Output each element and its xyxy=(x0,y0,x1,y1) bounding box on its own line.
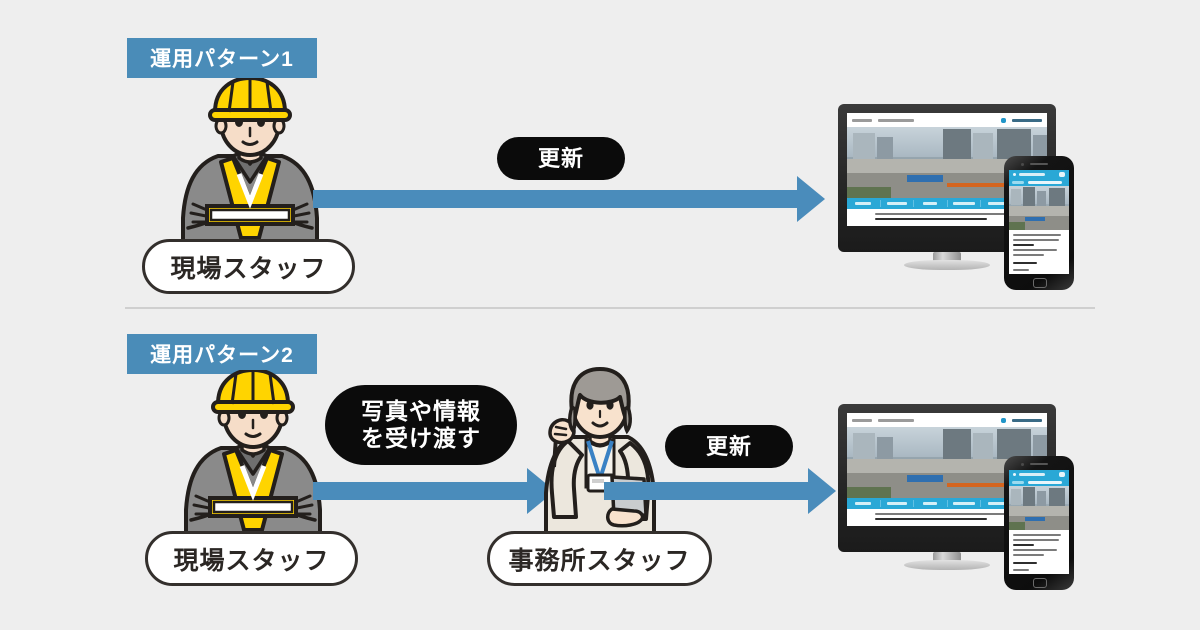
site-nav-item xyxy=(914,202,947,205)
update-pill-2-label: 更新 xyxy=(706,434,752,460)
flow-arrow-1 xyxy=(313,176,825,222)
phone-site-header xyxy=(1009,470,1069,479)
site-header-logo xyxy=(1001,118,1042,123)
smartphone-icon xyxy=(1004,456,1074,590)
phone-site-nav xyxy=(1009,179,1069,186)
handoff-pill-line-1: 写真や情報 xyxy=(361,398,481,425)
site-header-logo xyxy=(1001,418,1042,423)
phone-body-text xyxy=(1009,230,1069,274)
construction-worker-icon xyxy=(155,78,345,250)
site-nav-item xyxy=(847,202,880,205)
actor-caption-site-staff-2: 現場スタッフ xyxy=(145,531,358,586)
site-nav-item xyxy=(914,502,947,505)
site-nav-item xyxy=(881,502,914,505)
infographic-canvas: 運用パターン1 xyxy=(0,0,1200,630)
site-nav-item xyxy=(948,202,981,205)
pattern-1-badge-label: 運用パターン1 xyxy=(150,43,294,73)
pattern-1-badge: 運用パターン1 xyxy=(127,38,317,78)
phone-site-nav xyxy=(1009,479,1069,486)
update-pill-1: 更新 xyxy=(497,137,625,180)
flow-arrow-2b xyxy=(604,468,836,514)
actor-caption-office-staff: 事務所スタッフ xyxy=(487,531,712,586)
construction-worker-icon xyxy=(158,370,348,542)
handoff-pill-line-2: を受け渡す xyxy=(361,425,481,452)
smartphone-icon xyxy=(1004,156,1074,290)
phone-hero-photo xyxy=(1009,186,1069,230)
site-nav-item xyxy=(881,202,914,205)
handoff-pill: 写真や情報 を受け渡す xyxy=(325,385,517,465)
update-pill-2: 更新 xyxy=(665,425,793,468)
office-staff-icon xyxy=(520,367,680,542)
actor-caption-office-staff-label: 事務所スタッフ xyxy=(508,541,690,577)
flow-arrow-2a xyxy=(313,468,555,514)
actor-caption-site-staff-1-label: 現場スタッフ xyxy=(170,249,326,285)
phone-site-header xyxy=(1009,170,1069,179)
site-nav-item xyxy=(847,502,880,505)
actor-caption-site-staff-1: 現場スタッフ xyxy=(142,239,355,294)
device-group-1 xyxy=(838,104,1106,290)
section-divider xyxy=(125,307,1095,309)
site-header-title xyxy=(852,119,914,122)
phone-hero-photo xyxy=(1009,486,1069,530)
site-header-title xyxy=(852,419,914,422)
update-pill-1-label: 更新 xyxy=(538,146,584,172)
phone-body-text xyxy=(1009,530,1069,574)
pattern-2-badge-label: 運用パターン2 xyxy=(150,339,294,369)
device-group-2 xyxy=(838,404,1106,590)
pattern-2-badge: 運用パターン2 xyxy=(127,334,317,374)
actor-caption-site-staff-2-label: 現場スタッフ xyxy=(173,541,329,577)
site-nav-item xyxy=(948,502,981,505)
